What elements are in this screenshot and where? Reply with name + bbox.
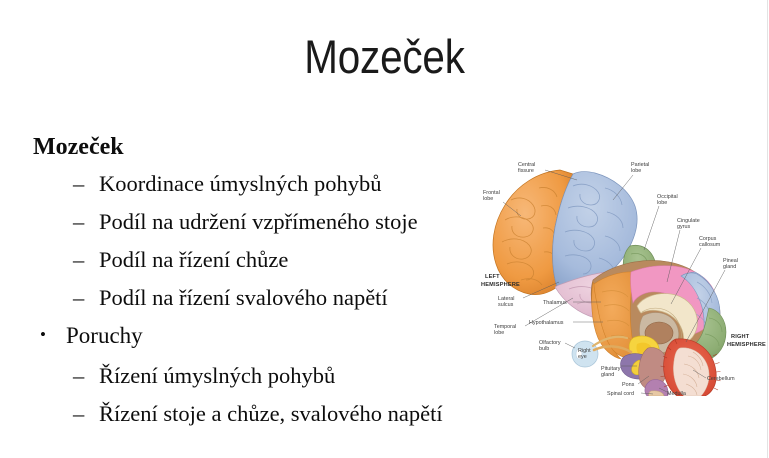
list-item: – Řízení stoje a chůze, svalového napětí (73, 395, 480, 433)
label-medulla: Medulla (667, 391, 686, 396)
dash-bullet-icon: – (73, 203, 99, 241)
list-item: – Řízení úmyslných pohybů (73, 357, 480, 395)
list-item-label: Řízení úmyslných pohybů (99, 357, 335, 395)
label-left-hemisphere-line1: LEFT (485, 274, 500, 280)
dash-bullet-icon: – (73, 241, 99, 279)
list-item-label: Podíl na řízení chůze (99, 241, 288, 279)
presentation-slide: Mozeček Mozeček – Koordinace úmyslných p… (0, 0, 769, 458)
dash-bullet-icon: – (73, 357, 99, 395)
list-item-label: Poruchy (66, 317, 143, 355)
list-item: – Podíl na řízení chůze (73, 241, 480, 279)
list-item-label: Koordinace úmyslných pohybů (99, 165, 381, 203)
label-central-fissure-line2: fissure (518, 168, 534, 174)
slide-title: Mozeček (54, 30, 715, 84)
label-lateral-sulcus-line2: sulcus (498, 302, 514, 308)
dash-bullet-icon: – (73, 165, 99, 203)
dash-bullet-icon: – (73, 279, 99, 317)
label-hypothalamus: Hypothalamus (529, 320, 564, 326)
label-occipital-lobe-line2: lobe (657, 200, 667, 206)
label-corpus-callosum-line2: callosum (699, 242, 721, 248)
list-item-label: Řízení stoje a chůze, svalového napětí (99, 395, 443, 433)
label-temporal-lobe-line2: lobe (494, 330, 504, 336)
list-item: – Podíl na udržení vzpřímeného stoje (73, 203, 480, 241)
list-item: – Koordinace úmyslných pohybů (73, 165, 480, 203)
label-frontal-lobe-line2: lobe (483, 196, 493, 202)
list-item-label: Podíl na řízení svalového napětí (99, 279, 388, 317)
dash-bullet-icon: – (73, 395, 99, 433)
list-item-label: Podíl na udržení vzpřímeného stoje (99, 203, 418, 241)
label-cerebellum: Cerebellum (707, 376, 735, 382)
label-right-hemisphere-line2: HEMISPHERE (727, 342, 766, 348)
round-bullet-icon: • (40, 316, 66, 354)
label-parietal-lobe-line2: lobe (631, 168, 641, 174)
body-heading: Mozeček (33, 133, 480, 161)
label-thalamus: Thalamus (543, 300, 567, 306)
leader-olfactory-bulb (565, 343, 575, 348)
label-left-hemisphere-line2: HEMISPHERE (481, 282, 520, 288)
list-item: • Poruchy (40, 317, 480, 357)
slide-right-border (767, 0, 768, 458)
body-text-block: Mozeček – Koordinace úmyslných pohybů – … (0, 133, 480, 433)
leader-occipital-lobe (644, 206, 659, 250)
label-right-hemisphere-line1: RIGHT (731, 334, 750, 340)
label-pineal-gland-line2: gland (723, 264, 736, 270)
label-right-eye-line2: eye (578, 354, 587, 360)
label-olfactory-bulb-line2: bulb (539, 346, 549, 352)
label-pituitary-gland-line2: gland (601, 372, 614, 378)
brain-anatomy-image: Central fissure Frontal lobe Parietal lo… (481, 158, 766, 396)
label-pons: Pons (622, 382, 635, 388)
list-item: – Podíl na řízení svalového napětí (73, 279, 480, 317)
label-cingulate-gyrus-line2: gyrus (677, 224, 690, 230)
label-spinal-cord: Spinal cord (607, 391, 634, 396)
